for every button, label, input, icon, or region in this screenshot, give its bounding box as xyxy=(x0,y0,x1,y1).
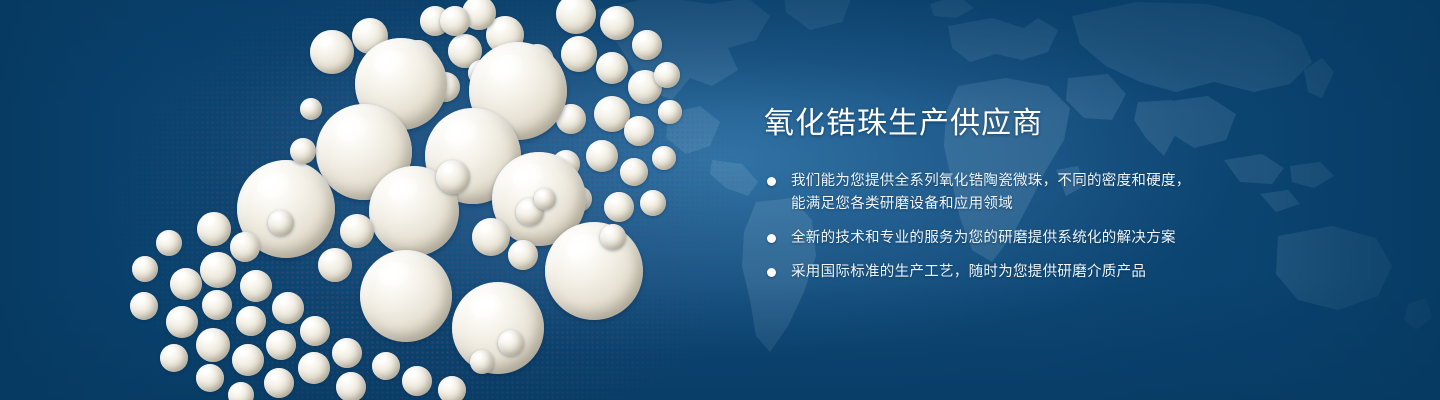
list-item-line: 采用国际标准的生产工艺，随时为您提供研磨介质产品 xyxy=(791,261,1264,284)
list-item: 我们能为您提供全系列氧化锆陶瓷微珠，不同的密度和硬度， 能满足您各类研磨设备和应… xyxy=(764,170,1264,216)
list-item-line: 能满足您各类研磨设备和应用领域 xyxy=(791,193,1264,216)
hero-banner: 氧化锆珠生产供应商 我们能为您提供全系列氧化锆陶瓷微珠，不同的密度和硬度， 能满… xyxy=(0,0,1440,400)
bullet-dot-icon xyxy=(767,268,776,277)
list-item-line: 我们能为您提供全系列氧化锆陶瓷微珠，不同的密度和硬度， xyxy=(791,170,1264,193)
bullet-dot-icon xyxy=(767,177,776,186)
banner-text-block: 氧化锆珠生产供应商 我们能为您提供全系列氧化锆陶瓷微珠，不同的密度和硬度， 能满… xyxy=(764,104,1264,284)
bullet-dot-icon xyxy=(767,234,776,243)
list-item-line: 全新的技术和专业的服务为您的研磨提供系统化的解决方案 xyxy=(791,227,1264,250)
feature-list: 我们能为您提供全系列氧化锆陶瓷微珠，不同的密度和硬度， 能满足您各类研磨设备和应… xyxy=(764,170,1264,284)
list-item: 全新的技术和专业的服务为您的研磨提供系统化的解决方案 xyxy=(764,227,1264,250)
page-title: 氧化锆珠生产供应商 xyxy=(764,104,1264,144)
list-item: 采用国际标准的生产工艺，随时为您提供研磨介质产品 xyxy=(764,261,1264,284)
